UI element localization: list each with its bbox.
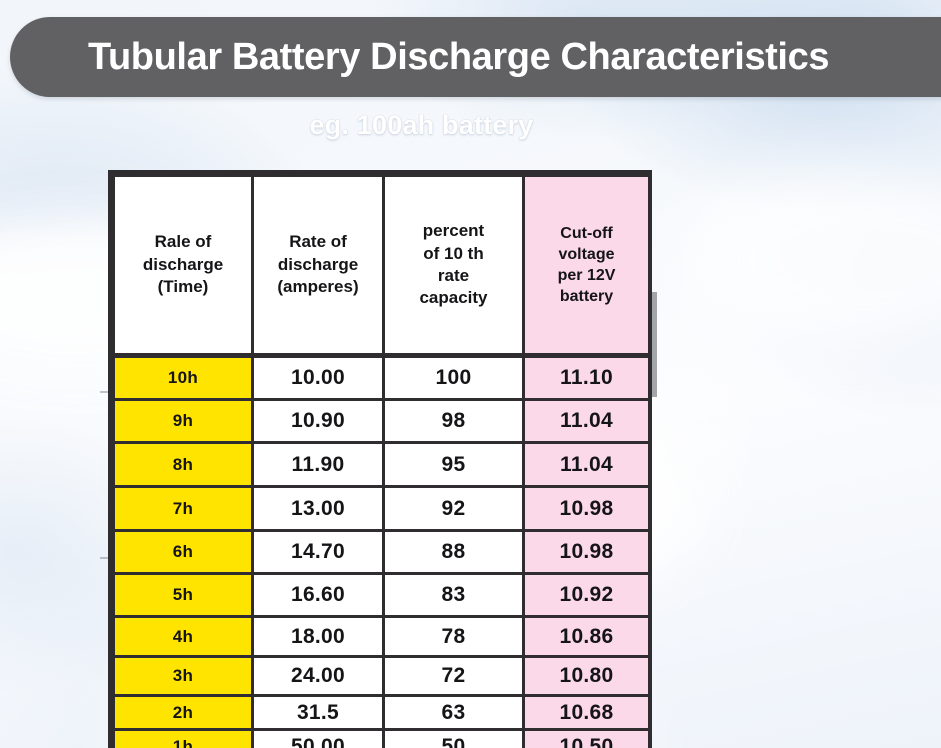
cell-amperes: 31.5	[253, 696, 384, 730]
cell-cutoff-voltage: 10.80	[524, 657, 650, 696]
cell-amperes: 13.00	[253, 487, 384, 531]
table-row: 3h 24.00 72 10.80	[114, 657, 650, 696]
cell-time: 3h	[114, 657, 253, 696]
cell-cutoff-voltage: 11.10	[524, 356, 650, 400]
header-line: Rate of	[259, 231, 377, 253]
cell-time: 2h	[114, 696, 253, 730]
header-line: rate	[390, 265, 517, 287]
cell-percent: 100	[384, 356, 524, 400]
table-row: 9h 10.90 98 11.04	[114, 400, 650, 443]
cell-amperes: 16.60	[253, 574, 384, 617]
discharge-characteristics-table: Rale of discharge (Time) Rate of dischar…	[112, 174, 651, 748]
table-row: 10h 10.00 100 11.10	[114, 356, 650, 400]
header-line: Cut-off	[530, 223, 643, 244]
table-row: 6h 14.70 88 10.98	[114, 531, 650, 574]
cell-percent: 83	[384, 574, 524, 617]
header-line: of 10 th	[390, 243, 517, 265]
column-header-percent-of-10th-rate-capacity: percent of 10 th rate capacity	[384, 176, 524, 356]
header-line: (Time)	[120, 276, 246, 298]
cell-time: 10h	[114, 356, 253, 400]
artifact-border-jog	[652, 292, 657, 397]
cell-cutoff-voltage: 11.04	[524, 400, 650, 443]
header-line: (amperes)	[259, 276, 377, 298]
cell-cutoff-voltage: 10.68	[524, 696, 650, 730]
cell-amperes: 18.00	[253, 617, 384, 657]
header-line: capacity	[390, 287, 517, 309]
header-line: percent	[390, 220, 517, 242]
table-row: 5h 16.60 83 10.92	[114, 574, 650, 617]
column-header-rate-of-discharge-amperes: Rate of discharge (amperes)	[253, 176, 384, 356]
column-header-cutoff-voltage-per-12v-battery: Cut-off voltage per 12V battery	[524, 176, 650, 356]
cell-cutoff-voltage: 10.50	[524, 730, 650, 748]
cell-cutoff-voltage: 10.98	[524, 487, 650, 531]
cell-amperes: 11.90	[253, 443, 384, 487]
page-title: Tubular Battery Discharge Characteristic…	[88, 38, 829, 76]
cell-cutoff-voltage: 10.98	[524, 531, 650, 574]
cell-time: 9h	[114, 400, 253, 443]
header-line: voltage	[530, 244, 643, 265]
table-row: 4h 18.00 78 10.86	[114, 617, 650, 657]
cell-percent: 72	[384, 657, 524, 696]
table-row: 8h 11.90 95 11.04	[114, 443, 650, 487]
cell-time: 5h	[114, 574, 253, 617]
header-line: discharge	[259, 254, 377, 276]
title-bar: Tubular Battery Discharge Characteristic…	[10, 17, 941, 97]
cell-percent: 50	[384, 730, 524, 748]
slide-canvas: Tubular Battery Discharge Characteristic…	[0, 0, 941, 748]
table-row: 2h 31.5 63 10.68	[114, 696, 650, 730]
cell-percent: 92	[384, 487, 524, 531]
cell-percent: 63	[384, 696, 524, 730]
table-header: Rale of discharge (Time) Rate of dischar…	[114, 176, 650, 356]
table-body: 10h 10.00 100 11.10 9h 10.90 98 11.04 8h…	[114, 356, 650, 748]
cell-time: 1h	[114, 730, 253, 748]
cell-amperes: 14.70	[253, 531, 384, 574]
table-row: 7h 13.00 92 10.98	[114, 487, 650, 531]
cell-amperes: 50.00	[253, 730, 384, 748]
cell-percent: 88	[384, 531, 524, 574]
header-line: battery	[530, 286, 643, 307]
cell-time: 6h	[114, 531, 253, 574]
cell-percent: 78	[384, 617, 524, 657]
cell-time: 7h	[114, 487, 253, 531]
cell-amperes: 10.90	[253, 400, 384, 443]
header-line: Rale of	[120, 231, 246, 253]
cell-percent: 95	[384, 443, 524, 487]
cloud-puff-right	[690, 170, 941, 350]
cell-cutoff-voltage: 10.86	[524, 617, 650, 657]
cell-time: 4h	[114, 617, 253, 657]
page-subtitle: eg. 100ah battery	[0, 110, 843, 141]
cell-amperes: 10.00	[253, 356, 384, 400]
cell-cutoff-voltage: 11.04	[524, 443, 650, 487]
column-header-rate-of-discharge-time: Rale of discharge (Time)	[114, 176, 253, 356]
header-line: discharge	[120, 254, 246, 276]
table-header-row: Rale of discharge (Time) Rate of dischar…	[114, 176, 650, 356]
header-line: per 12V	[530, 265, 643, 286]
table-row: 1h 50.00 50 10.50	[114, 730, 650, 748]
cell-time: 8h	[114, 443, 253, 487]
cell-cutoff-voltage: 10.92	[524, 574, 650, 617]
discharge-table-container: Rale of discharge (Time) Rate of dischar…	[108, 170, 652, 748]
cell-amperes: 24.00	[253, 657, 384, 696]
cell-percent: 98	[384, 400, 524, 443]
